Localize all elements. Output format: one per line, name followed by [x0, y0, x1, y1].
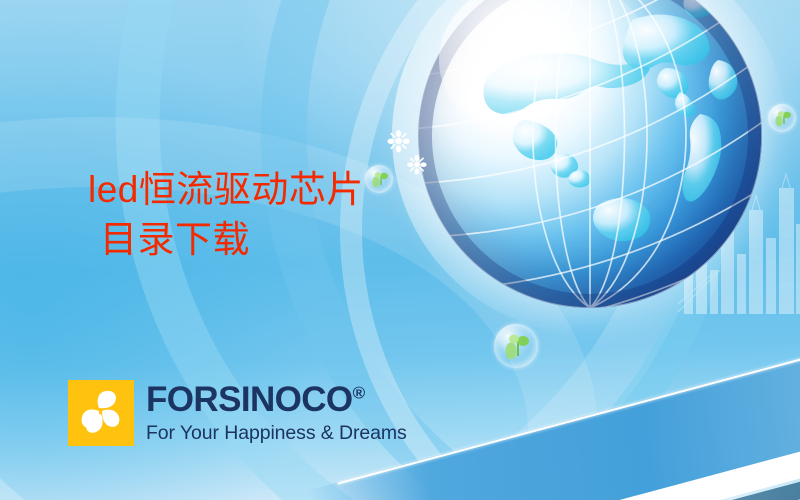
logo-text-block: FORSINOCO® For Your Happiness & Dreams [146, 382, 407, 444]
promo-banner: ❉ ❉ led恒流驱动芯片 目录下载 [0, 0, 800, 500]
company-logo: FORSINOCO® For Your Happiness & Dreams [68, 380, 407, 446]
pinwheel-flower-icon [68, 380, 134, 446]
registered-trademark-icon: ® [353, 384, 366, 403]
headline-line-1: led恒流驱动芯片 [88, 169, 364, 210]
bubble-sprout-icon [494, 324, 538, 368]
headline-line-2: 目录下载 [88, 218, 364, 262]
earth-globe-icon [418, 0, 762, 308]
diagonal-ribbon-hairline [337, 348, 800, 485]
sparkle-flower-icon: ❉ [406, 152, 428, 178]
diagonal-ribbon-steel [452, 466, 800, 500]
bubble-sprout-icon [768, 104, 796, 132]
bubble-sprout-icon [365, 165, 393, 193]
logo-wordmark: FORSINOCO® [146, 382, 407, 417]
logo-wordmark-text: FORSINOCO [146, 380, 353, 419]
logo-tagline: For Your Happiness & Dreams [146, 424, 407, 444]
headline: led恒流驱动芯片 目录下载 [88, 168, 364, 261]
diagonal-ribbon-bottom [353, 485, 800, 500]
